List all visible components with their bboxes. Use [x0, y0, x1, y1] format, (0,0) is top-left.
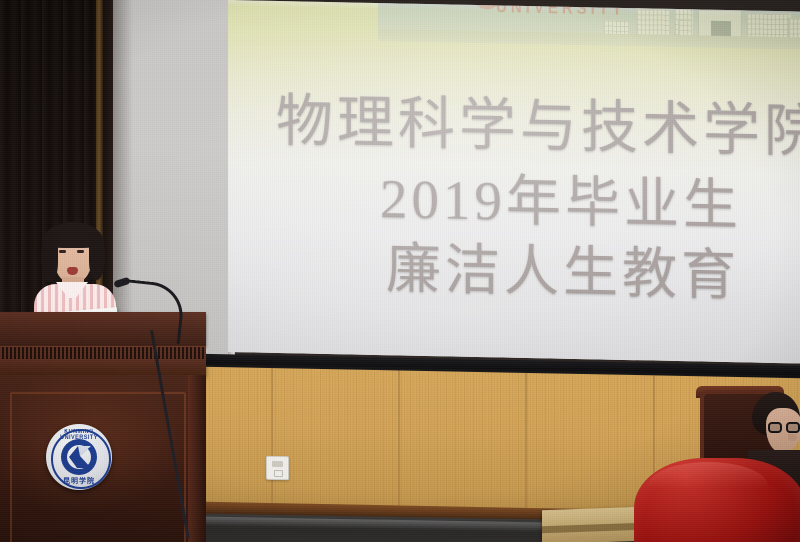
emblem-chinese-text: 昆明学院 — [46, 476, 112, 486]
presenter-mouth — [67, 267, 78, 275]
campus-photo-banner: UNIVERSITY — [378, 0, 800, 50]
panel-seam — [525, 373, 527, 521]
glasses-icon — [768, 422, 800, 433]
wall-outlet-icon[interactable] — [266, 456, 289, 480]
slide-line-2: 2019年毕业生 — [380, 153, 742, 240]
emblem-glyph — [58, 437, 100, 477]
podium-right-edge — [188, 375, 206, 542]
presenter-hair-right — [89, 232, 105, 280]
attendee-nose — [788, 434, 797, 441]
university-emblem-icon: KUNMING UNIVERSITY 昆明学院 — [46, 424, 112, 490]
panel-seam — [398, 370, 400, 518]
slide-line-1: 物理科学与技术学院 — [276, 75, 800, 168]
podium-shelf — [0, 359, 206, 375]
projector-light-falloff — [228, 0, 800, 363]
lecture-hall-photo: UNIVERSITY 物理科学与技术学院 2019年毕业生 廉洁人生教育 — [0, 0, 800, 542]
slide-background: UNIVERSITY 物理科学与技术学院 2019年毕业生 廉洁人生教育 — [228, 0, 800, 363]
panel-seam — [271, 368, 273, 516]
projection-screen: UNIVERSITY 物理科学与技术学院 2019年毕业生 廉洁人生教育 — [228, 0, 800, 363]
presenter-eye-right — [77, 250, 84, 253]
presenter-eye-left — [59, 250, 66, 253]
presenter-hair-left — [41, 232, 58, 282]
banner-university-word: UNIVERSITY — [496, 0, 626, 19]
slide-title-block: 物理科学与技术学院 2019年毕业生 廉洁人生教育 — [228, 0, 800, 355]
slide-line-3: 廉洁人生教育 — [386, 223, 740, 310]
